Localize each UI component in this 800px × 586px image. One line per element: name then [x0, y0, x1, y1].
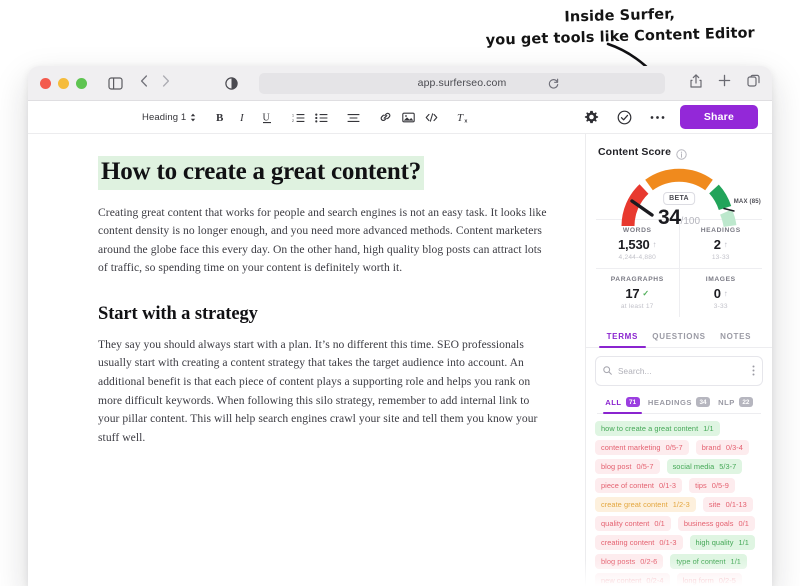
term-name: social media: [673, 462, 715, 471]
sidebar-toggle-icon[interactable]: [108, 77, 123, 90]
browser-window: app.surferseo.com Hea: [28, 66, 772, 586]
sidebar-tabs[interactable]: TERMSQUESTIONSNOTES: [586, 321, 772, 348]
term-name: new content: [601, 576, 641, 585]
metric-arrow-up-icon: ↑: [724, 290, 728, 298]
sidebar-title: Content Score: [598, 146, 671, 158]
term-chip[interactable]: blog posts0/2-6: [595, 554, 663, 569]
term-filters[interactable]: ALL71HEADINGS34NLP22: [597, 393, 761, 414]
filter-count-badge: 34: [696, 397, 710, 407]
gear-icon[interactable]: [581, 106, 603, 128]
plus-icon[interactable]: [718, 74, 731, 92]
term-name: long form: [683, 576, 714, 585]
term-chip[interactable]: blog post0/5-7: [595, 459, 660, 474]
minimize-window-button[interactable]: [58, 78, 69, 89]
screenshot-stage: Inside Surfer, you get tools like Conten…: [0, 0, 800, 566]
image-icon[interactable]: [397, 107, 420, 127]
metric-arrow-up-icon: ↑: [653, 241, 657, 249]
formatting-tools: Heading 1 B I U 12 Tx: [138, 107, 475, 127]
svg-text:B: B: [216, 112, 224, 123]
window-controls[interactable]: [40, 78, 87, 89]
term-name: blog posts: [601, 557, 635, 566]
kebab-menu-icon[interactable]: [752, 365, 755, 378]
metric-check-icon: ✓: [642, 290, 649, 298]
ordered-list-icon[interactable]: 12: [287, 107, 310, 127]
filter-all[interactable]: ALL71: [597, 393, 648, 413]
heading-level-select[interactable]: Heading 1: [138, 110, 200, 125]
term-name: piece of content: [601, 481, 654, 490]
term-row: how to create a great content1/1: [595, 421, 763, 436]
term-name: quality content: [601, 519, 649, 528]
term-name: blog post: [601, 462, 631, 471]
term-chip[interactable]: business goals0/1: [678, 516, 755, 531]
metric-value: 17: [625, 286, 639, 301]
maximize-window-button[interactable]: [76, 78, 87, 89]
term-count: 5/3-7: [719, 462, 736, 471]
term-count: 0/2-5: [719, 576, 736, 585]
term-row: piece of content0/1-3tips0/5-9: [595, 478, 763, 493]
term-row: blog post0/5-7social media5/3-7: [595, 459, 763, 474]
metrics-grid: WORDS1,530↑4,244-4,880HEADINGS2↑13-33PAR…: [596, 219, 762, 317]
tab-notes[interactable]: NOTES: [707, 327, 764, 347]
term-name: tips: [695, 481, 707, 490]
bullet-list-icon[interactable]: [310, 107, 333, 127]
metric-range: 3-33: [682, 303, 761, 310]
heading-level-label: Heading 1: [142, 112, 186, 123]
term-chip[interactable]: piece of content0/1-3: [595, 478, 682, 493]
term-name: business goals: [684, 519, 734, 528]
metric-value: 1,530: [618, 237, 650, 252]
svg-text:I: I: [239, 112, 245, 123]
search-icon: [603, 362, 612, 380]
term-row: content marketing0/5-7brand0/3-4: [595, 440, 763, 455]
svg-text:x: x: [464, 118, 467, 123]
metric-range: 4,244-4,880: [598, 254, 677, 261]
term-name: high quality: [696, 538, 734, 547]
term-chip[interactable]: site0/1-13: [703, 497, 753, 512]
term-chip[interactable]: how to create a great content1/1: [595, 421, 720, 436]
term-count: 1/2-3: [673, 500, 690, 509]
filter-label: ALL: [605, 398, 621, 407]
filter-label: NLP: [718, 398, 735, 407]
term-count: 0/5-9: [712, 481, 729, 490]
metric-images: IMAGES0↑3-33: [679, 269, 763, 317]
term-count: 0/1: [738, 519, 748, 528]
term-count: 1/1: [739, 538, 749, 547]
bold-icon[interactable]: B: [209, 107, 232, 127]
term-chip[interactable]: high quality1/1: [690, 535, 755, 550]
editor-actions: Share: [581, 105, 760, 129]
term-chip[interactable]: content marketing0/5-7: [595, 440, 689, 455]
url-text: app.surferseo.com: [418, 77, 507, 89]
check-circle-icon[interactable]: [614, 106, 636, 128]
metric-arrow-up-icon: ↑: [724, 241, 728, 249]
reload-icon[interactable]: [548, 78, 559, 89]
svg-text:1: 1: [292, 113, 294, 117]
term-count: 0/2-6: [640, 557, 657, 566]
forward-chevron-icon[interactable]: [162, 74, 170, 92]
info-icon[interactable]: [676, 147, 687, 158]
document-heading-2[interactable]: Start with a strategy: [98, 304, 551, 325]
document-editor[interactable]: How to create a great content? Creating …: [28, 134, 586, 586]
term-count: 0/1-3: [659, 538, 676, 547]
score-value: 34: [658, 206, 681, 230]
underline-icon[interactable]: U: [255, 107, 278, 127]
term-name: how to create a great content: [601, 424, 698, 433]
term-count: 1/1: [731, 557, 741, 566]
score-max: /100: [681, 216, 700, 227]
tab-terms[interactable]: TERMS: [594, 327, 651, 347]
copy-tabs-icon[interactable]: [747, 74, 760, 92]
back-chevron-icon[interactable]: [140, 74, 148, 92]
metric-value: 0: [714, 286, 721, 301]
term-name: site: [709, 500, 721, 509]
search-placeholder: Search...: [618, 367, 746, 376]
term-count: 1/1: [703, 424, 713, 433]
gauge-max-label: MAX (85): [734, 199, 761, 205]
browser-actions[interactable]: [690, 74, 760, 93]
term-count: 0/5-7: [636, 462, 653, 471]
share-button[interactable]: Share: [680, 105, 758, 129]
app-content: How to create a great content? Creating …: [28, 134, 772, 586]
address-bar[interactable]: app.surferseo.com: [259, 73, 665, 94]
term-row: creating content0/1-3high quality1/1: [595, 535, 763, 550]
svg-text:U: U: [262, 112, 270, 123]
svg-text:2: 2: [292, 119, 294, 123]
term-chip[interactable]: type of content1/1: [670, 554, 747, 569]
link-icon[interactable]: [374, 107, 397, 127]
term-chip[interactable]: create great content1/2-3: [595, 497, 696, 512]
editor-toolbar: Heading 1 B I U 12 Tx: [28, 101, 772, 134]
tab-questions[interactable]: QUESTIONS: [651, 327, 708, 347]
term-count: 0/2-4: [646, 576, 663, 585]
align-icon[interactable]: [342, 107, 365, 127]
term-count: 0/1: [654, 519, 664, 528]
italic-icon[interactable]: I: [232, 107, 255, 127]
term-chip[interactable]: brand0/3-4: [696, 440, 749, 455]
metric-value: 2: [714, 237, 721, 252]
beta-badge: BETA: [663, 192, 695, 205]
term-name: brand: [702, 443, 721, 452]
metric-range: 13-33: [682, 254, 761, 261]
ellipsis-icon[interactable]: [647, 106, 669, 128]
term-chip[interactable]: creating content0/1-3: [595, 535, 683, 550]
document-title[interactable]: How to create a great content?: [98, 156, 424, 190]
metric-row: PARAGRAPHS17✓at least 17IMAGES0↑3-33: [596, 269, 762, 317]
code-icon[interactable]: [420, 107, 443, 127]
term-count: 0/1-13: [726, 500, 747, 509]
clear-format-icon[interactable]: Tx: [452, 107, 475, 127]
metric-label: IMAGES: [682, 276, 761, 283]
term-name: creating content: [601, 538, 654, 547]
share-icon[interactable]: [690, 74, 702, 93]
term-chip[interactable]: tips0/5-9: [689, 478, 735, 493]
filter-nlp[interactable]: NLP22: [710, 393, 761, 413]
close-window-button[interactable]: [40, 78, 51, 89]
term-chip[interactable]: social media5/3-7: [667, 459, 743, 474]
term-count: 0/5-7: [666, 443, 683, 452]
stepper-arrows-icon: [190, 113, 196, 122]
document-paragraph-2[interactable]: They say you should always start with a …: [98, 336, 551, 448]
content-score-sidebar: Content Score BETA: [586, 134, 772, 586]
browser-titlebar: app.surferseo.com: [28, 66, 772, 101]
filter-label: HEADINGS: [648, 398, 692, 407]
term-count: 0/1-3: [659, 481, 676, 490]
navigation-controls[interactable]: [140, 74, 170, 92]
content-score-gauge: BETA 34 /100 MAX (85): [586, 168, 772, 209]
term-row: create great content1/2-3site0/1-13: [595, 497, 763, 512]
term-name: content marketing: [601, 443, 661, 452]
filter-headings[interactable]: HEADINGS34: [648, 393, 710, 413]
term-chip[interactable]: quality content0/1: [595, 516, 671, 531]
term-row: new content0/2-4long form0/2-5: [595, 573, 763, 586]
terms-panel: Search... ALL71HEADINGS34NLP22 how to cr…: [595, 356, 763, 586]
metric-paragraphs: PARAGRAPHS17✓at least 17: [596, 269, 679, 317]
term-row: blog posts0/2-6type of content1/1: [595, 554, 763, 569]
filter-count-badge: 22: [739, 397, 753, 407]
filter-count-badge: 71: [626, 397, 640, 407]
reader-contrast-icon[interactable]: [225, 77, 238, 90]
search-input[interactable]: Search...: [595, 356, 763, 386]
svg-text:T: T: [457, 112, 464, 124]
metric-label: PARAGRAPHS: [598, 276, 677, 283]
document-paragraph-1[interactable]: Creating great content that works for pe…: [98, 204, 551, 278]
term-name: create great content: [601, 500, 668, 509]
term-count: 0/3-4: [726, 443, 743, 452]
term-chip[interactable]: new content0/2-4: [595, 573, 670, 586]
term-name: type of content: [676, 557, 725, 566]
term-row: quality content0/1business goals0/1: [595, 516, 763, 531]
score-value-group: 34 /100: [658, 206, 700, 230]
metric-range: at least 17: [598, 303, 677, 310]
term-chip[interactable]: long form0/2-5: [677, 573, 742, 586]
sidebar-header: Content Score: [586, 146, 772, 168]
terms-list: how to create a great content1/1content …: [595, 421, 763, 586]
